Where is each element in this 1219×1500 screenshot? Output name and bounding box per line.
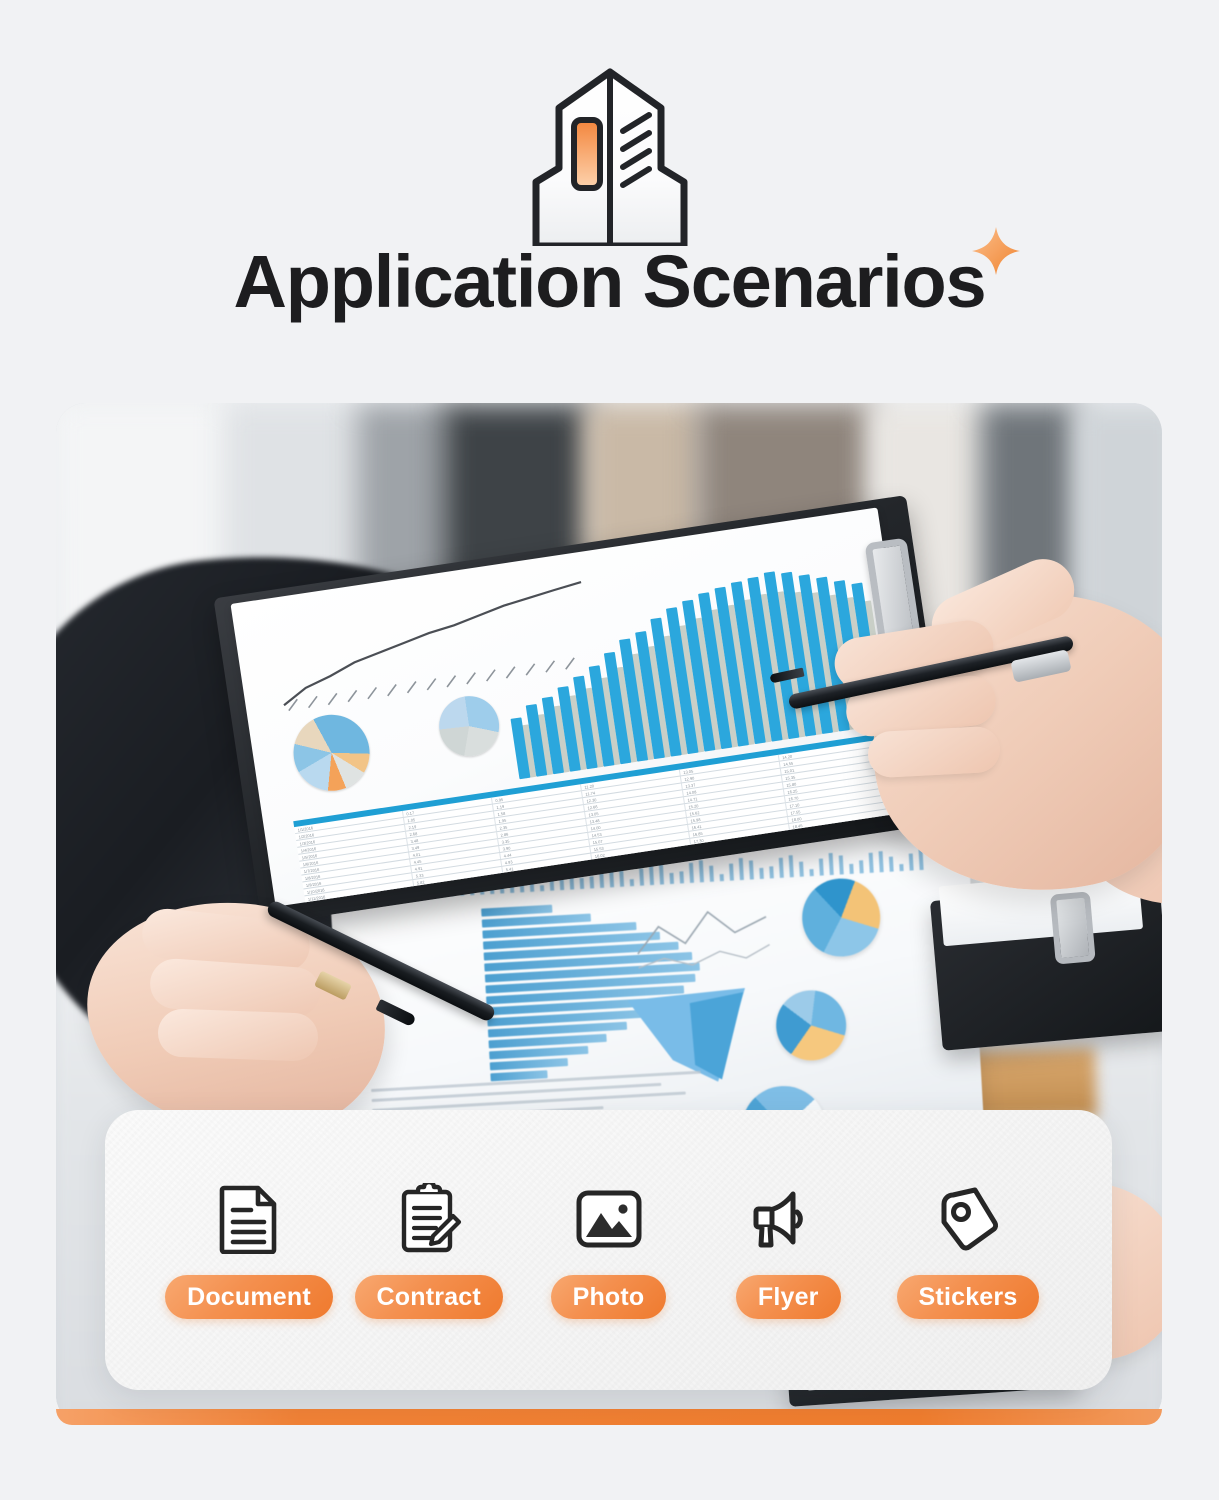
tick — [739, 858, 744, 880]
tick — [619, 871, 624, 887]
tick — [789, 856, 794, 878]
report-pie-2 — [774, 988, 848, 1062]
page-root: Application Scenarios — [0, 0, 1219, 1500]
tick — [759, 868, 764, 879]
sparkle-icon — [969, 224, 1023, 278]
tick — [689, 863, 694, 883]
clipboard-pencil-icon — [391, 1181, 467, 1257]
tick — [720, 874, 724, 881]
image-icon — [571, 1181, 647, 1257]
clipboard-pie-2 — [435, 692, 503, 760]
hbar — [489, 1046, 589, 1060]
tick — [769, 866, 774, 879]
scenario-stickers-label[interactable]: Stickers — [897, 1275, 1040, 1319]
scenario-flyer-label[interactable]: Flyer — [736, 1275, 841, 1319]
document-icon — [211, 1181, 287, 1257]
tick — [580, 878, 585, 889]
hbar — [481, 905, 552, 917]
tick — [709, 866, 714, 882]
tick — [779, 857, 784, 878]
scenario-photo-label[interactable]: Photo — [551, 1275, 667, 1319]
title-row: Application Scenarios — [0, 236, 1219, 328]
scenario-photo[interactable]: Photo — [521, 1181, 697, 1319]
tick — [699, 861, 704, 883]
building-tower-icon — [501, 64, 719, 246]
header-section: Application Scenarios — [0, 0, 1219, 372]
tick — [540, 885, 544, 891]
tick — [679, 871, 684, 883]
clipboard-pie-1 — [288, 710, 374, 796]
right-hand-with-pen — [816, 523, 1162, 933]
tick — [669, 873, 674, 884]
scenario-document[interactable]: Document — [161, 1181, 337, 1319]
tick — [799, 861, 804, 877]
scenario-flyer[interactable]: Flyer — [700, 1181, 876, 1319]
scenario-stickers[interactable]: Stickers — [880, 1181, 1056, 1319]
tick — [639, 869, 644, 886]
scenario-contract-label[interactable]: Contract — [355, 1275, 503, 1319]
hbar — [490, 1058, 568, 1070]
tick — [659, 865, 664, 885]
tick — [749, 860, 754, 880]
scenario-document-label[interactable]: Document — [165, 1275, 333, 1319]
scenario-contract[interactable]: Contract — [341, 1181, 517, 1319]
tick — [630, 880, 634, 887]
megaphone-icon — [750, 1181, 826, 1257]
tick — [809, 869, 813, 876]
price-tag-icon — [930, 1181, 1006, 1257]
scenario-badge-panel: Document Contract — [105, 1110, 1112, 1390]
page-title: Application Scenarios — [234, 240, 986, 323]
hero-accent-bar — [56, 1409, 1162, 1425]
tick — [729, 864, 734, 881]
tick — [590, 876, 595, 888]
